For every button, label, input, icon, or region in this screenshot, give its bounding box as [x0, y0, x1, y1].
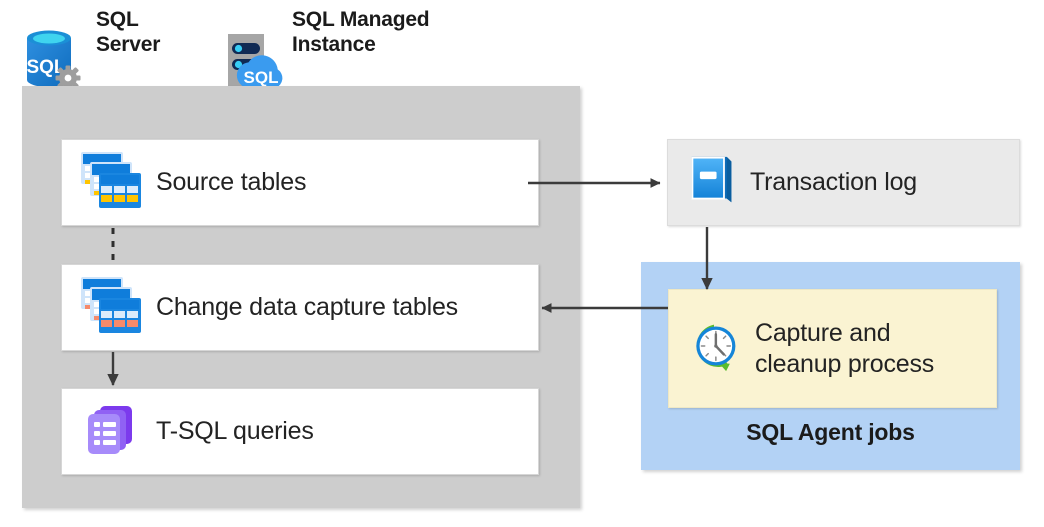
clock-refresh-icon: [687, 319, 741, 378]
change-data-capture-tables-box[interactable]: Change data capture tables: [61, 264, 539, 351]
sql-agent-jobs-caption: SQL Agent jobs: [641, 419, 1020, 446]
sql-managed-instance-label: SQL Managed Instance: [292, 7, 429, 57]
change-data-capture-tables-icon: [80, 276, 142, 339]
sql-server-label: SQL Server: [96, 7, 160, 57]
capture-and-cleanup-process-box[interactable]: Capture and cleanup process: [668, 289, 997, 408]
tsql-queries-box[interactable]: T-SQL queries: [61, 388, 539, 475]
capture-and-cleanup-process-label: Capture and cleanup process: [755, 318, 934, 380]
source-tables-label: Source tables: [156, 167, 306, 198]
tsql-queries-icon: [80, 400, 142, 463]
sql-server-icon: SQL: [16, 26, 82, 92]
transaction-log-icon: [686, 153, 736, 212]
transaction-log-box[interactable]: Transaction log: [667, 139, 1020, 226]
cdc-architecture-diagram: SQL SQL Server: [0, 0, 1044, 527]
sql-managed-instance-icon: SQL: [220, 26, 290, 92]
source-tables-icon: [80, 151, 142, 214]
change-data-capture-tables-label: Change data capture tables: [156, 292, 458, 323]
tsql-queries-label: T-SQL queries: [156, 416, 314, 447]
svg-text:SQL: SQL: [244, 68, 279, 87]
transaction-log-label: Transaction log: [750, 167, 917, 198]
source-tables-box[interactable]: Source tables: [61, 139, 539, 226]
